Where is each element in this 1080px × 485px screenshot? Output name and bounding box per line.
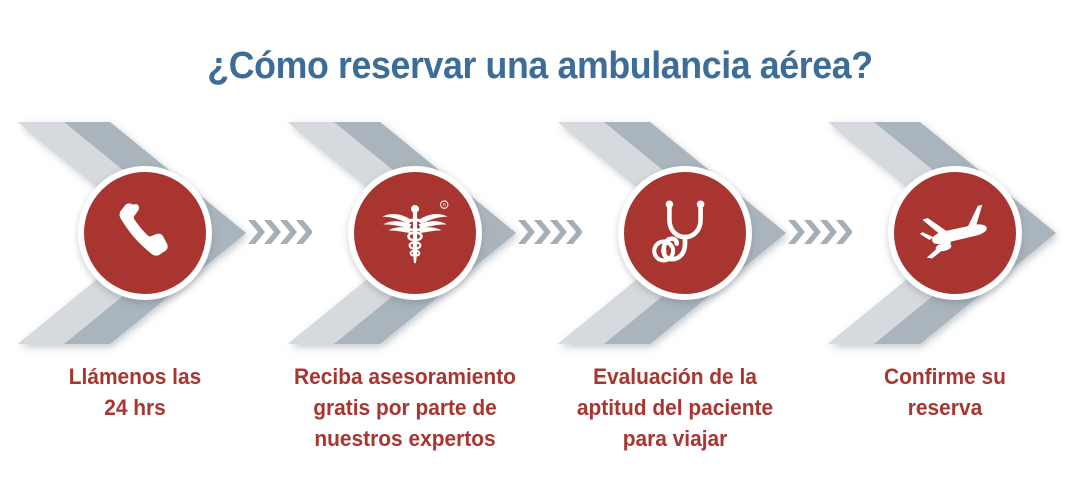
step-3-medallion [618,166,752,300]
caduceus-icon: R [372,190,458,276]
step-1 [0,118,270,348]
step-2-caption: Reciba asesoramiento gratis por parte de… [277,361,534,454]
step-2: R [270,118,540,348]
telephone-handset-icon [108,196,182,270]
step-4-medallion [888,166,1022,300]
captions-row: Llámenos las 24 hrs Reciba asesoramiento… [0,361,1080,481]
step-2-medallion: R [348,166,482,300]
step-1-caption: Llámenos las 24 hrs [7,361,264,423]
step-4 [810,118,1080,348]
steps-band: R [0,118,1080,348]
page-title: ¿Cómo reservar una ambulancia aérea? [32,44,1047,88]
step-3-caption: Evaluación de la aptitud del paciente pa… [547,361,804,454]
step-1-medallion [78,166,212,300]
stethoscope-icon [644,192,726,274]
airplane-icon [911,189,999,277]
step-4-caption: Confirme su reserva [817,361,1074,423]
svg-text:R: R [443,203,447,208]
step-3 [540,118,810,348]
infographic-canvas: ¿Cómo reservar una ambulancia aérea? [0,0,1080,485]
